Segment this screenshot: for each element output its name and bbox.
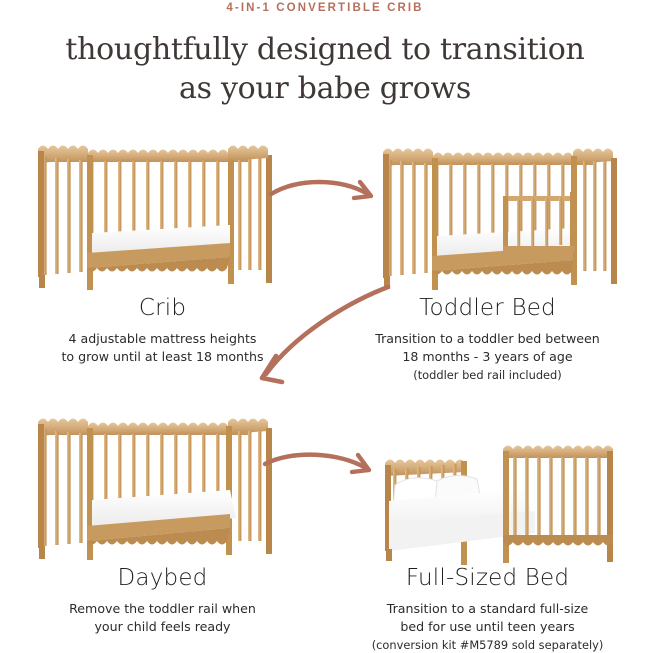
daybed-desc-line-1: Remove the toddler rail when xyxy=(0,600,325,618)
stage-card-daybed: Daybed Remove the toddler rail when your… xyxy=(0,400,325,650)
stage-title-daybed: Daybed xyxy=(0,565,325,591)
toddler-bed-illustration xyxy=(375,130,623,290)
daybed-desc-line-2: your child feels ready xyxy=(0,618,325,636)
stage-description-full-sized-bed: Transition to a standard full-size bed f… xyxy=(325,600,650,653)
full-sized-bed-illustration xyxy=(375,405,623,565)
full-desc-line-2: bed for use until teen years xyxy=(325,618,650,636)
headline-line-1: thoughtfully designed to transition xyxy=(65,32,584,67)
stage-description-daybed: Remove the toddler rail when your child … xyxy=(0,600,325,637)
stage-title-full-sized-bed: Full-Sized Bed xyxy=(325,565,650,591)
full-desc-line-1: Transition to a standard full-size xyxy=(325,600,650,618)
full-desc-note: (conversion kit #M5789 sold separately) xyxy=(325,637,650,653)
daybed-illustration xyxy=(30,400,278,560)
page-title: thoughtfully designed to transition as y… xyxy=(0,30,650,108)
arrow-daybed-to-full xyxy=(262,444,384,490)
arrow-toddler-to-daybed xyxy=(248,282,398,392)
stage-card-full-sized-bed: Full-Sized Bed Transition to a standard … xyxy=(325,400,650,650)
infographic-page: 4-IN-1 CONVERTIBLE CRIB thoughtfully des… xyxy=(0,0,650,650)
headline-line-2: as your babe grows xyxy=(0,69,650,108)
arrow-crib-to-toddler xyxy=(268,172,384,220)
crib-illustration xyxy=(30,125,278,290)
eyebrow-label: 4-IN-1 CONVERTIBLE CRIB xyxy=(0,2,650,14)
